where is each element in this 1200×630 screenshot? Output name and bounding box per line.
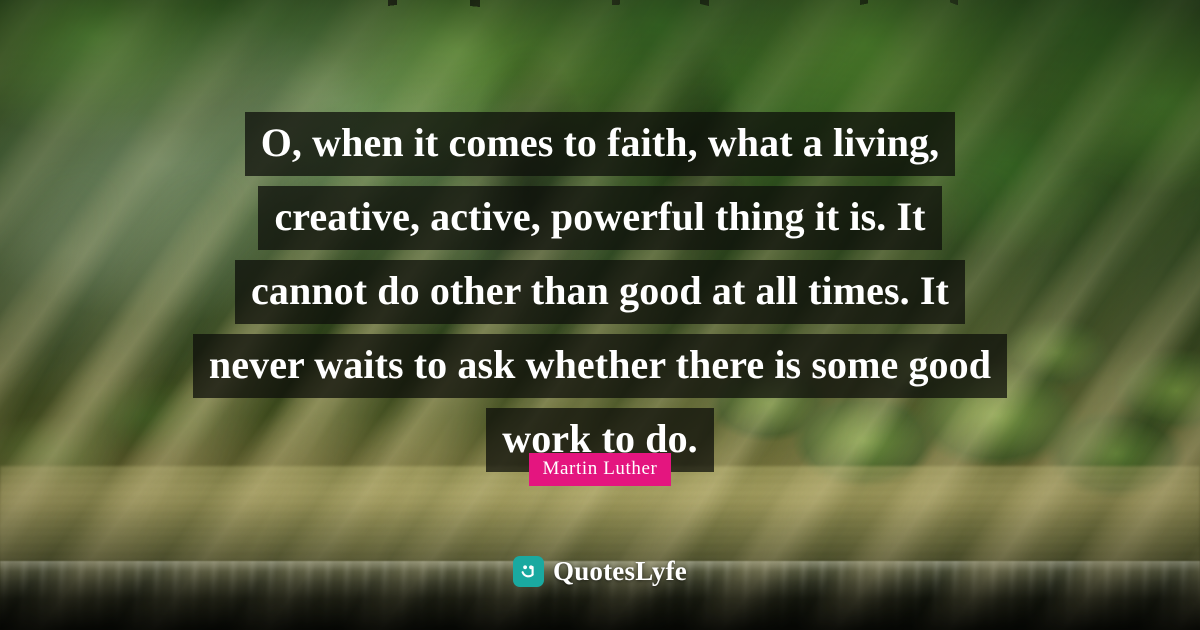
quote-marks-smiley-icon: [513, 556, 544, 587]
quote-line: never waits to ask whether there is some…: [193, 334, 1007, 398]
quote-line: O, when it comes to faith, what a living…: [245, 112, 956, 176]
brand-name-text: QuotesLyfe: [553, 557, 687, 586]
author-name-badge[interactable]: Martin Luther: [529, 453, 672, 486]
quote-text-block: O, when it comes to faith, what a living…: [0, 112, 1200, 482]
author-badge-container: Martin Luther: [0, 453, 1200, 486]
quote-line: cannot do other than good at all times. …: [235, 260, 965, 324]
quote-image-canvas: O, when it comes to faith, what a living…: [0, 0, 1200, 630]
quote-line: creative, active, powerful thing it is. …: [258, 186, 941, 250]
brand-logo[interactable]: QuotesLyfe: [0, 556, 1200, 587]
